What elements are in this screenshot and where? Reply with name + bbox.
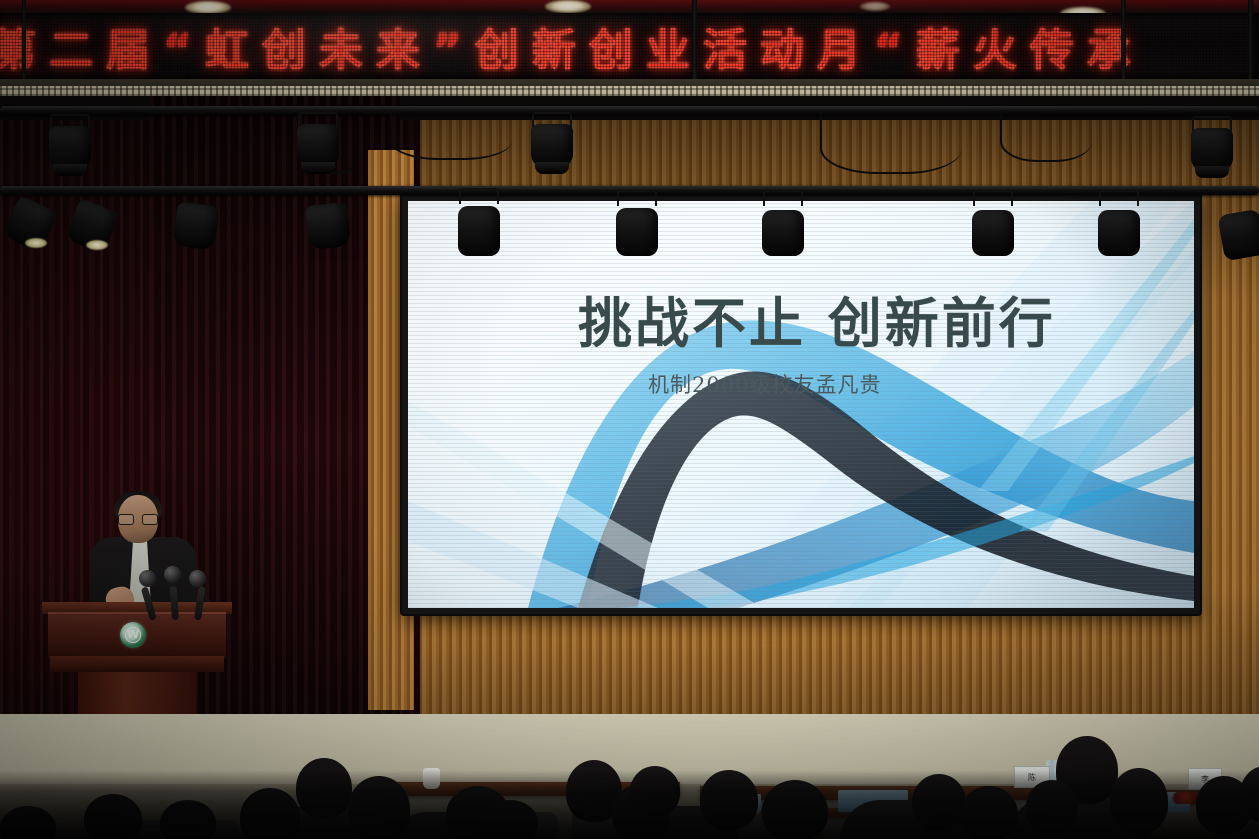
lamp-body: [972, 210, 1014, 256]
stage-spotlight: [448, 194, 510, 270]
flower-arrangement-red: [1172, 792, 1198, 804]
lamp-lens: [53, 164, 87, 176]
ceiling-downlight: [860, 2, 890, 11]
stage-spotlight: [40, 114, 100, 184]
stage-spotlight: [300, 192, 356, 258]
lectern-skirt: [50, 656, 224, 672]
stage-spotlight: [168, 192, 224, 258]
power-cable: [1000, 110, 1092, 162]
stage-spotlight: [1182, 116, 1242, 186]
lamp-glow: [25, 238, 47, 248]
stage-spotlight: [0, 190, 60, 260]
audience-head: [296, 758, 352, 818]
stage-spotlight: [606, 196, 668, 268]
audience-head: [84, 794, 142, 839]
led-banner: 第二届“虹创未来”创新创业活动月“薪火传承: [0, 13, 1259, 79]
eyeglasses-icon: [118, 514, 158, 525]
eyeglass-lens-right: [142, 514, 158, 525]
audience-head: [1026, 780, 1078, 834]
audience-head: [630, 766, 680, 816]
microphone-head: [164, 566, 181, 583]
led-banner-text: 第二届“虹创未来”创新创业活动月“薪火传承: [0, 13, 1259, 79]
lamp-yoke: [459, 188, 499, 204]
stage-spotlight: [288, 112, 348, 182]
stage-spotlight: [752, 198, 814, 270]
stage-spotlight: [1088, 198, 1150, 270]
power-cable: [820, 110, 962, 174]
auditorium-photo: 第二届“虹创未来”创新创业活动月“薪火传承: [0, 0, 1259, 839]
lamp-lens: [535, 162, 569, 174]
slide-subtitle: 机制2000级校友孟凡贵: [648, 369, 1068, 399]
lamp-body: [616, 208, 658, 256]
audience-head: [160, 800, 216, 839]
power-cable: [390, 112, 512, 160]
ceramic-mug: [423, 768, 440, 789]
lamp-body: [762, 210, 804, 256]
lamp-yoke: [973, 190, 1013, 206]
audience-head: [348, 776, 410, 839]
ceiling-downlight: [545, 0, 591, 13]
audience-head: [912, 774, 966, 830]
lamp-body: [1217, 209, 1259, 262]
lamp-yoke: [617, 190, 657, 206]
stage-spotlight: [522, 112, 582, 182]
microphone-head: [139, 570, 156, 587]
lamp-body: [172, 201, 220, 250]
lamp-body: [305, 202, 351, 250]
crest-letter: W: [126, 628, 140, 642]
lamp-lens: [1195, 166, 1229, 178]
lamp-yoke: [1099, 190, 1139, 206]
stage-spotlight: [1214, 200, 1259, 270]
audience-head: [960, 786, 1018, 839]
lamp-lens: [301, 162, 335, 174]
slide-title: 挑战不止 创新前行: [578, 279, 1098, 358]
microphone-head: [189, 570, 206, 587]
audience-head: [240, 788, 300, 839]
audience-head: [762, 780, 828, 839]
lamp-body: [458, 206, 500, 256]
audience-head: [1110, 768, 1168, 834]
audience-head: [482, 800, 538, 839]
lamp-body: [1098, 210, 1140, 256]
stage-spotlight: [962, 198, 1024, 270]
lamp-glow: [86, 240, 108, 250]
eyeglass-lens-left: [118, 514, 134, 525]
audience-head: [700, 770, 758, 830]
stage-spotlight: [62, 192, 122, 262]
lamp-yoke: [763, 190, 803, 206]
